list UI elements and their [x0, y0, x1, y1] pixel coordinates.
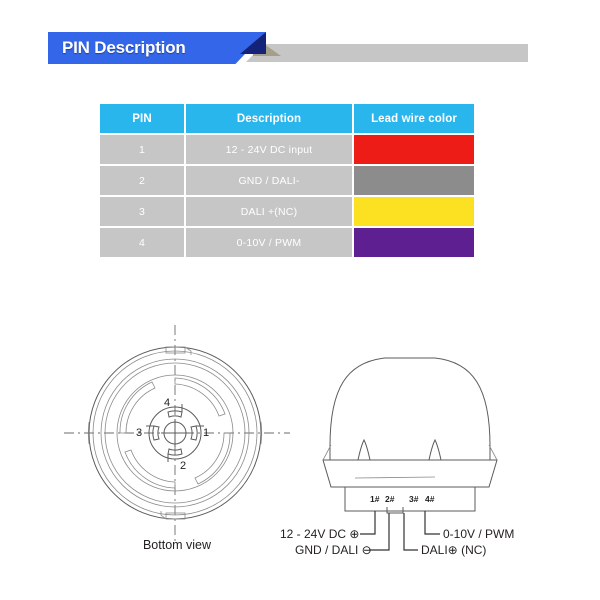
- table-header-row: PIN Description Lead wire color: [100, 104, 474, 133]
- cell-description: 12 - 24V DC input: [186, 135, 352, 164]
- column-header-lead-wire-color: Lead wire color: [354, 104, 474, 133]
- callout-line-pin1: [360, 511, 375, 534]
- banner-grey-bar: [263, 44, 528, 62]
- cell-lead-wire-color-swatch: [354, 166, 474, 195]
- cell-description: 0-10V / PWM: [186, 228, 352, 257]
- bottom-view-pin-1: 1: [203, 427, 209, 439]
- banner-navy-triangle: [240, 32, 266, 54]
- fin-left: [358, 440, 370, 460]
- column-header-pin: PIN: [100, 104, 184, 133]
- callout-line-pin4: [425, 511, 440, 534]
- connector-label-2: 2#: [385, 494, 395, 504]
- cell-pin: 4: [100, 228, 184, 257]
- table-row: 40-10V / PWM: [100, 228, 474, 257]
- table-row: 2GND / DALI-: [100, 166, 474, 195]
- sensor-dome: [330, 358, 490, 460]
- tab-top: [166, 347, 185, 353]
- connector-label-1: 1#: [370, 494, 380, 504]
- callout-dali-nc: DALI⊕ (NC): [421, 543, 486, 557]
- cell-pin: 1: [100, 135, 184, 164]
- callout-0-10v-pwm: 0-10V / PWM: [443, 527, 514, 541]
- callout-line-pin2: [369, 513, 389, 550]
- callout-gnd-dali: GND / DALI ⊖: [295, 543, 372, 557]
- page-title: PIN Description: [62, 36, 186, 60]
- callout-line-pin3: [404, 513, 418, 550]
- connector-bridge: [387, 507, 403, 513]
- side-view-diagram: 1# 2# 3# 4# 12 - 24V DC ⊕ GND / DALI ⊖ D…: [285, 350, 600, 565]
- cell-lead-wire-color-swatch: [354, 228, 474, 257]
- cell-pin: 2: [100, 166, 184, 195]
- cell-pin: 3: [100, 197, 184, 226]
- table-row: 3DALI +(NC): [100, 197, 474, 226]
- cell-description: GND / DALI-: [186, 166, 352, 195]
- bottom-view-pin-2: 2: [180, 460, 186, 472]
- bottom-view-diagram: 1 2 3 4: [62, 330, 292, 560]
- table-row: 112 - 24V DC input: [100, 135, 474, 164]
- column-header-description: Description: [186, 104, 352, 133]
- cell-lead-wire-color-swatch: [354, 135, 474, 164]
- bottom-view-caption: Bottom view: [62, 538, 292, 552]
- bottom-view-pin-3: 3: [136, 427, 142, 439]
- callout-12-24v-dc: 12 - 24V DC ⊕: [280, 527, 359, 541]
- fin-right: [429, 440, 441, 460]
- tab-bottom: [166, 513, 185, 519]
- sensor-base: [323, 460, 497, 487]
- section-banner: PIN Description: [48, 32, 528, 64]
- cell-description: DALI +(NC): [186, 197, 352, 226]
- connector-label-4: 4#: [425, 494, 435, 504]
- connector-label-3: 3#: [409, 494, 419, 504]
- cell-lead-wire-color-swatch: [354, 197, 474, 226]
- pin-description-table: PIN Description Lead wire color 112 - 24…: [98, 102, 476, 259]
- bottom-view-pin-4: 4: [164, 397, 170, 409]
- contact-blade-1: [191, 426, 197, 440]
